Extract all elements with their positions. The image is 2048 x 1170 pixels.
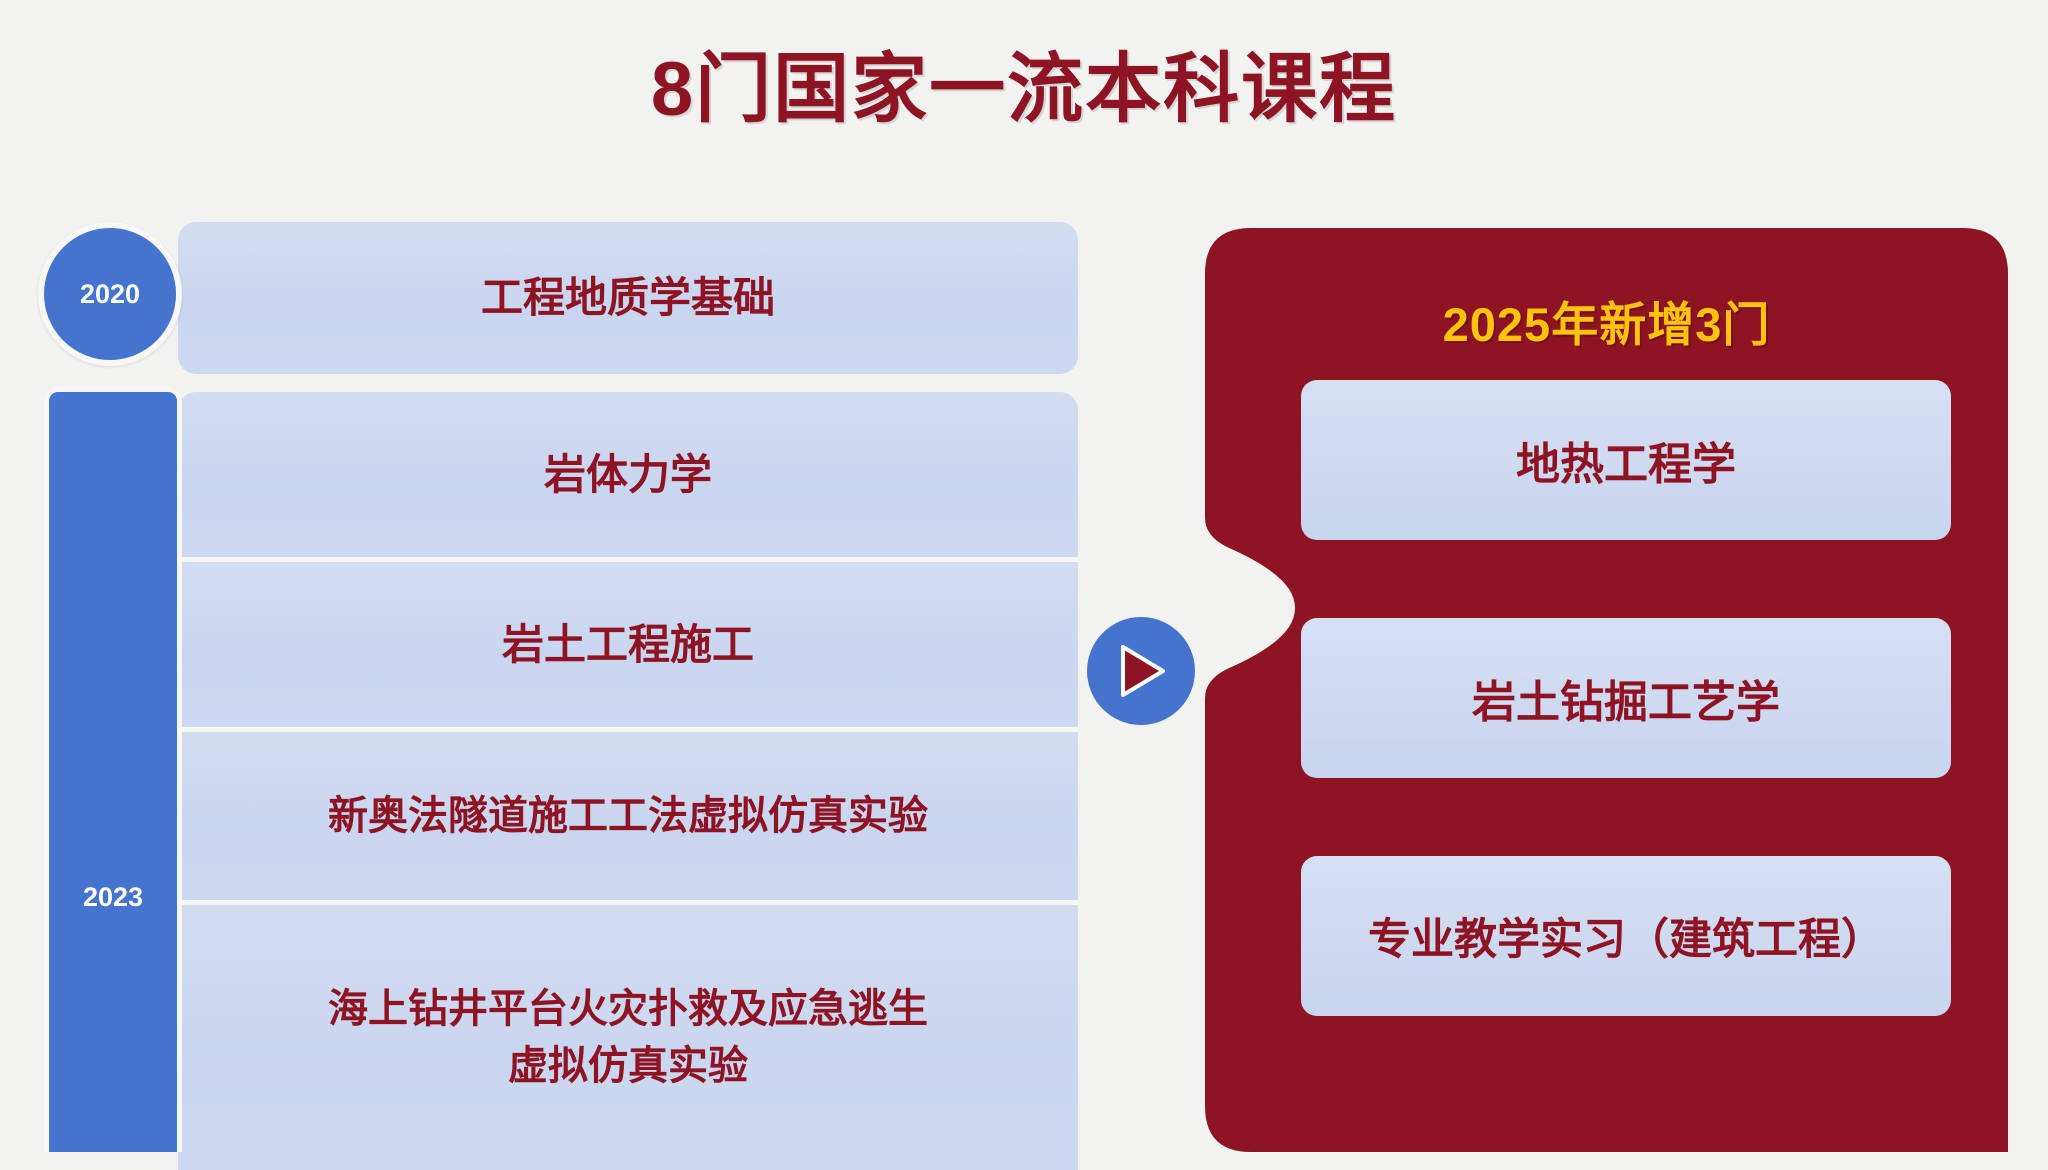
course-card[interactable]: 新奥法隧道施工工法虚拟仿真实验 xyxy=(178,732,1078,900)
panel-title: 2025年新增3门 xyxy=(1205,286,2008,355)
timeline-bar-2023-label: 2023 xyxy=(49,882,177,913)
course-card-label: 岩土工程施工 xyxy=(502,615,754,675)
course-card-label: 岩土钻掘工艺学 xyxy=(1472,666,1780,730)
slide-canvas: 8门国家一流本科课程 2020 2023 工程地质学基础 岩体力学 岩土工程施工… xyxy=(0,0,2048,1152)
course-card-label: 新奥法隧道施工工法虚拟仿真实验 xyxy=(328,788,928,845)
course-card-label: 工程地质学基础 xyxy=(481,268,775,328)
course-card-label: 地热工程学 xyxy=(1516,428,1736,492)
course-card[interactable]: 岩土工程施工 xyxy=(178,562,1078,727)
course-card-label: 专业教学实习（建筑工程） xyxy=(1368,905,1884,967)
course-card[interactable]: 专业教学实习（建筑工程） xyxy=(1301,856,1951,1016)
play-triangle-icon[interactable] xyxy=(1087,617,1195,725)
course-card[interactable]: 海上钻井平台火灾扑救及应急逃生 虚拟仿真实验 xyxy=(178,905,1078,1170)
timeline-badge-2020[interactable]: 2020 xyxy=(38,222,182,366)
course-card-label-line2: 虚拟仿真实验 xyxy=(508,1044,748,1088)
course-card-label-line1: 海上钻井平台火灾扑救及应急逃生 xyxy=(328,987,928,1031)
course-card[interactable]: 地热工程学 xyxy=(1301,380,1951,540)
course-card[interactable]: 岩土钻掘工艺学 xyxy=(1301,618,1951,778)
timeline-badge-2020-label: 2020 xyxy=(80,279,140,310)
timeline-bar-2023[interactable]: 2023 xyxy=(44,387,182,1152)
course-card[interactable]: 岩体力学 xyxy=(178,392,1078,557)
new-courses-panel: 2025年新增3门 地热工程学 岩土钻掘工艺学 专业教学实习（建筑工程） xyxy=(1205,228,2008,1152)
course-card-list-left: 工程地质学基础 岩体力学 岩土工程施工 新奥法隧道施工工法虚拟仿真实验 海上钻井… xyxy=(178,222,1078,1170)
page-title: 8门国家一流本科课程 xyxy=(0,52,2048,128)
course-card-label: 海上钻井平台火灾扑救及应急逃生 虚拟仿真实验 xyxy=(328,981,928,1095)
course-card-label: 岩体力学 xyxy=(544,445,712,505)
timeline-section: 2020 2023 工程地质学基础 岩体力学 岩土工程施工 新奥法隧道施工工法虚… xyxy=(38,222,1050,1152)
course-card[interactable]: 工程地质学基础 xyxy=(178,222,1078,374)
